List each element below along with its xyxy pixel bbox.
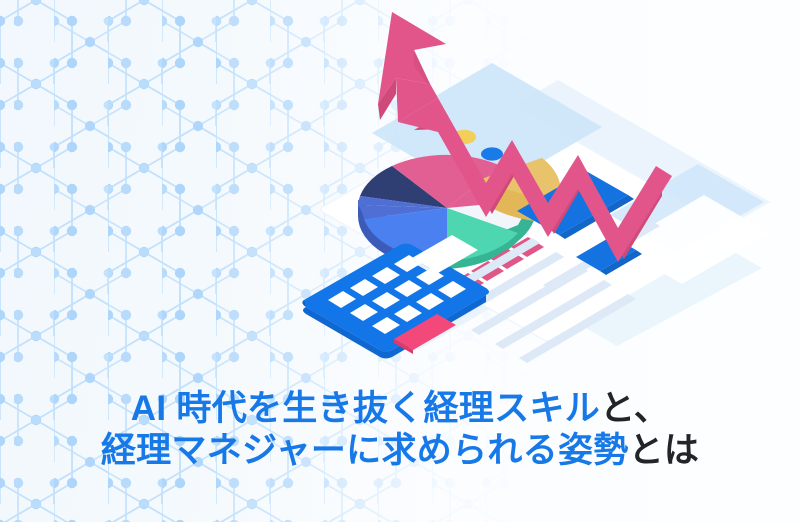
page-title: AI 時代を生き抜く経理スキルと、 経理マネジャーに求められる姿勢とは bbox=[0, 388, 800, 472]
title-line-2-blue: 経理マネジャーに求められる姿勢 bbox=[101, 431, 629, 470]
banner-canvas: AI 時代を生き抜く経理スキルと、 経理マネジャーに求められる姿勢とは bbox=[0, 0, 800, 522]
title-line-1: AI 時代を生き抜く経理スキルと、 bbox=[0, 388, 800, 430]
title-line-2-dark: とは bbox=[629, 431, 700, 470]
dot-blue bbox=[481, 147, 503, 160]
calculator bbox=[302, 235, 489, 359]
title-line-1-dark: と、 bbox=[600, 389, 669, 428]
title-line-1-blue: AI 時代を生き抜く経理スキル bbox=[131, 389, 600, 428]
analytics-illustration bbox=[296, 0, 800, 390]
title-line-2: 経理マネジャーに求められる姿勢とは bbox=[0, 430, 800, 472]
